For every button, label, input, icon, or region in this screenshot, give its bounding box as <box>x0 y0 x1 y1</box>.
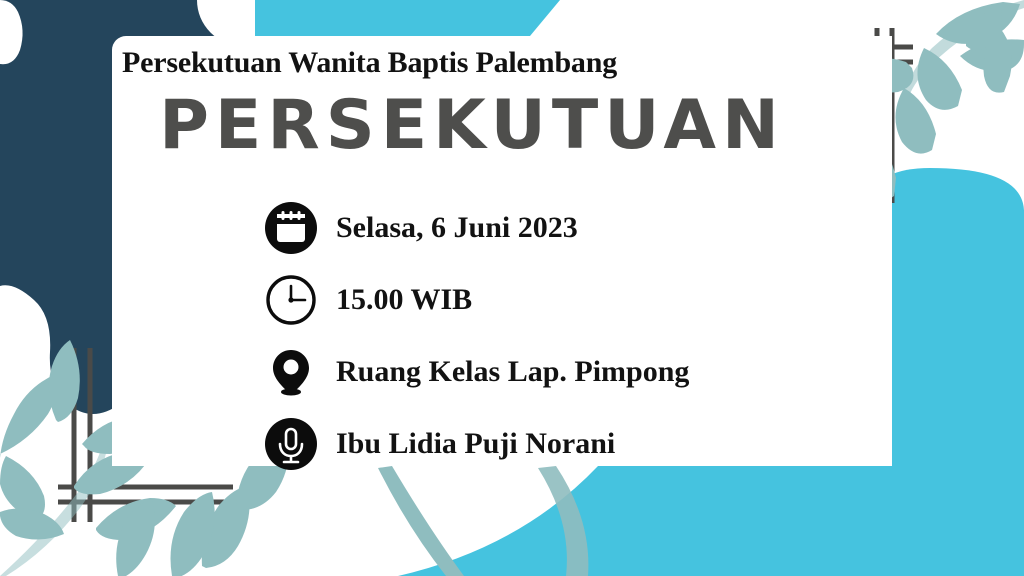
microphone-icon <box>262 415 320 473</box>
detail-row-date: Selasa, 6 Juni 2023 <box>262 192 689 264</box>
poster-canvas: Persekutuan Wanita Baptis Palembang PERS… <box>0 0 1024 576</box>
detail-row-location: Ruang Kelas Lap. Pimpong <box>262 336 689 408</box>
location-pin-icon <box>262 343 320 401</box>
teal-arc <box>378 466 464 576</box>
detail-label-date: Selasa, 6 Juni 2023 <box>336 211 578 245</box>
detail-row-time: 15.00 WIB <box>262 264 689 336</box>
detail-label-speaker: Ibu Lidia Puji Norani <box>336 427 615 461</box>
event-details-list: Selasa, 6 Juni 2023 15.00 WIB <box>262 192 689 480</box>
clock-icon <box>262 271 320 329</box>
organization-name: Persekutuan Wanita Baptis Palembang <box>122 46 882 80</box>
detail-row-speaker: Ibu Lidia Puji Norani <box>262 408 689 480</box>
cyan-bottom-wedge <box>398 466 1024 576</box>
page-title: PERSEKUTUAN <box>112 90 832 162</box>
detail-label-location: Ruang Kelas Lap. Pimpong <box>336 355 689 389</box>
cyan-top-band <box>255 0 560 36</box>
calendar-icon <box>262 199 320 257</box>
detail-label-time: 15.00 WIB <box>336 283 472 317</box>
